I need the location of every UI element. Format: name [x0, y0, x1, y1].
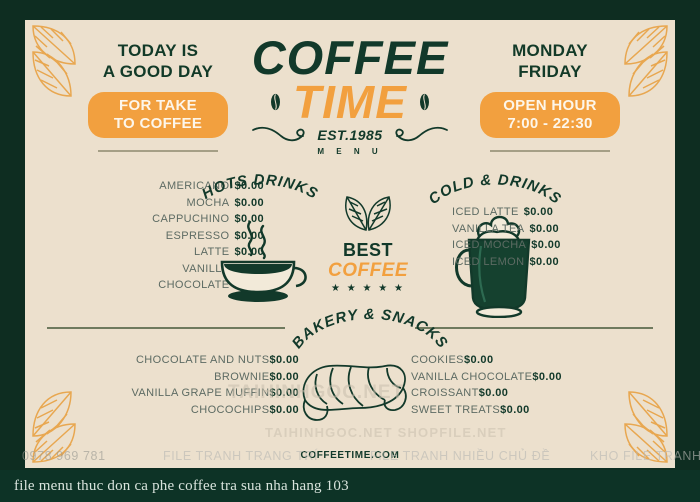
- right-divider: [490, 150, 610, 152]
- list-item: ICED MOCHA$0.00: [452, 237, 657, 254]
- item-name: VANILLA TEA: [452, 223, 524, 235]
- item-price: $0.00: [464, 354, 494, 366]
- cold-drinks-list: ICED LATTE$0.00 VANILLA TEA$0.00 ICED MO…: [452, 204, 657, 270]
- item-name: ICED LEMON: [452, 256, 524, 268]
- list-item: VANILLA CHOCOLATE$0.00: [411, 369, 661, 386]
- caption-bar: file menu thuc don ca phe coffee tra sua…: [0, 470, 700, 502]
- poster-header: TODAY IS A GOOD DAY FOR TAKE TO COFFEE C…: [25, 20, 675, 160]
- open-hour-label: OPEN HOUR: [486, 97, 614, 115]
- item-name: ICED MOCHA: [452, 239, 526, 251]
- flourish-left-icon: [251, 126, 313, 144]
- item-price: $0.00: [529, 256, 559, 268]
- list-item: ICED LATTE$0.00: [452, 204, 657, 221]
- open-hour-range: 7:00 - 22:30: [486, 115, 614, 133]
- item-name: VANILLA CHOCOLATE: [411, 371, 532, 383]
- item-price: $0.00: [531, 239, 561, 251]
- hot-drinks-arc-label: HOTS DRINKS: [180, 172, 340, 224]
- best-label: BEST: [320, 240, 416, 261]
- item-name: BROWNIE: [214, 371, 269, 383]
- watermark-text-1: FILE TRANH TRANG TRÍ: [163, 449, 318, 463]
- leaves-icon: [339, 192, 397, 232]
- svg-text:HOTS DRINKS: HOTS DRINKS: [199, 172, 321, 203]
- list-item: CROISSANT$0.00: [411, 385, 661, 402]
- caption-text: file menu thuc don ca phe coffee tra sua…: [0, 478, 349, 495]
- days-line2: FRIDAY: [455, 61, 645, 82]
- list-item: ICED LEMON$0.00: [452, 254, 657, 271]
- list-item: SWEET TREATS$0.00: [411, 402, 661, 419]
- item-price: $0.00: [500, 404, 530, 416]
- rating-stars: ★ ★ ★ ★ ★: [320, 283, 416, 294]
- opening-hours-block: MONDAY FRIDAY OPEN HOUR 7:00 - 22:30: [455, 40, 645, 152]
- item-price: $0.00: [529, 223, 559, 235]
- watermark-sites-text: TAIHINHGOC.NET SHOPFILE.NET: [265, 425, 507, 440]
- screenshot-root: TODAY IS A GOOD DAY FOR TAKE TO COFFEE C…: [0, 0, 700, 502]
- bakery-section: BAKERY & SNACKS CHOCOLATE AND NUTS$0.00 …: [25, 320, 675, 435]
- established-year: EST.1985: [317, 127, 382, 143]
- watermark-phone: 0978 969 781: [22, 449, 106, 463]
- logo-time-word: TIME: [293, 79, 407, 125]
- bakery-divider-left: [47, 327, 285, 329]
- days-title: MONDAY FRIDAY: [455, 40, 645, 83]
- watermark-text-3: KHO FILE TRANH: [590, 449, 700, 463]
- watermark-logo-text: TAIHINHGOC.NET: [228, 382, 404, 404]
- item-name: CROISSANT: [411, 387, 479, 399]
- item-name: CHOCOCHIPS: [191, 404, 270, 416]
- item-name: SWEET TREATS: [411, 404, 500, 416]
- item-price: $0.00: [532, 371, 562, 383]
- hot-coffee-cup-icon: [200, 218, 318, 304]
- item-name: ICED LATTE: [452, 206, 519, 218]
- poster-footer: COFFEETIME.COM: [25, 442, 675, 468]
- hot-drinks-label: HOTS DRINKS: [199, 172, 321, 203]
- bakery-right-list: COOKIES$0.00 VANILLA CHOCOLATE$0.00 CROI…: [411, 352, 661, 418]
- list-item: COOKIES$0.00: [411, 352, 661, 369]
- watermark-text-2: FILE TRANH NHIỀU CHỦ ĐỀ: [370, 449, 550, 463]
- item-price: $0.00: [524, 206, 554, 218]
- list-item: VANILLA TEA$0.00: [452, 221, 657, 238]
- drinks-section: AMERICANO$0.00 MOCHA$0.00 CAPPUCHINO$0.0…: [25, 170, 675, 318]
- open-hour-badge: OPEN HOUR 7:00 - 22:30: [480, 92, 620, 138]
- coffee-bean-icon: [270, 93, 281, 111]
- list-item: CHOCOLATE AND NUTS$0.00: [39, 352, 299, 369]
- item-name: CHOCOLATE AND NUTS: [136, 354, 270, 366]
- coffee-bean-icon: [419, 93, 430, 111]
- coffee-label: COFFEE: [320, 261, 416, 281]
- best-coffee-emblem: BEST COFFEE ★ ★ ★ ★ ★: [320, 192, 416, 294]
- bakery-divider-right: [415, 327, 653, 329]
- item-price: $0.00: [479, 387, 509, 399]
- days-line1: MONDAY: [455, 40, 645, 61]
- flourish-right-icon: [387, 126, 449, 144]
- item-name: COOKIES: [411, 354, 464, 366]
